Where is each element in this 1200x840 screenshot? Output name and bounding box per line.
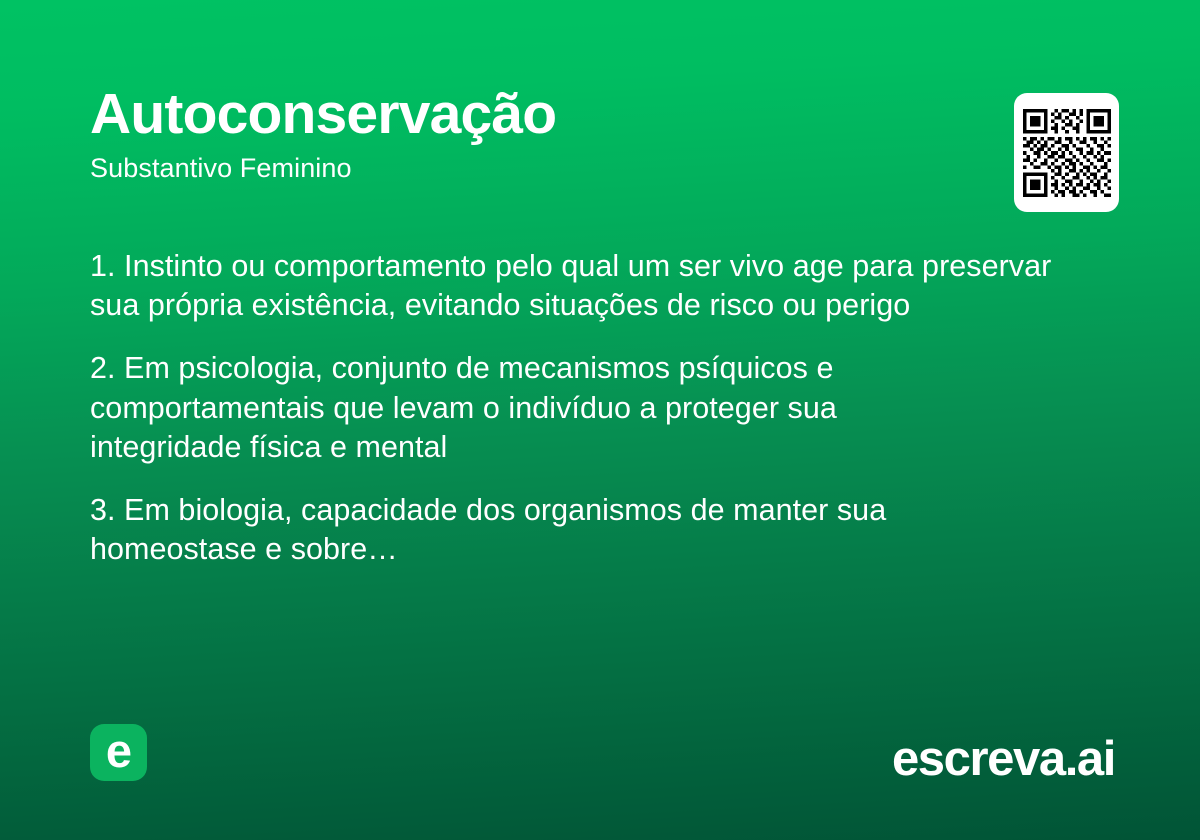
- definition-card: Autoconservação Substantivo Feminino: [0, 0, 1200, 840]
- qr-code-icon: [1023, 109, 1111, 197]
- qr-code-panel[interactable]: [1014, 93, 1119, 212]
- definition-item: 1. Instinto ou comportamento pelo qual u…: [90, 247, 1085, 325]
- card-footer: e escreva.ai: [0, 690, 1200, 840]
- page-title: Autoconservação: [90, 84, 1110, 144]
- definition-item: 2. Em psicologia, conjunto de mecanismos…: [90, 349, 970, 467]
- definition-list: 1. Instinto ou comportamento pelo qual u…: [90, 247, 1090, 569]
- brand-logo: e: [90, 724, 147, 781]
- brand-wordmark: escreva.ai: [892, 735, 1115, 784]
- definition-item: 3. Em biologia, capacidade dos organismo…: [90, 491, 1020, 569]
- brand-logo-glyph: e: [106, 727, 131, 774]
- word-class-label: Substantivo Feminino: [90, 153, 1110, 185]
- card-header: Autoconservação Substantivo Feminino: [90, 84, 1110, 185]
